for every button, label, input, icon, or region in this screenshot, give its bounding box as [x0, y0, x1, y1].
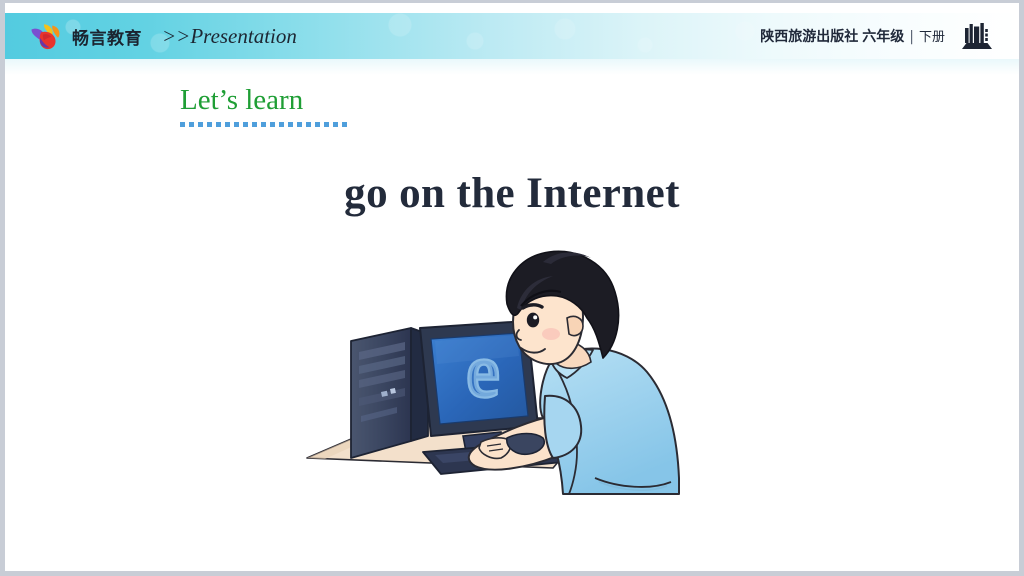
publisher-info: 陕西旅游出版社 六年级 | 下册: [760, 26, 945, 46]
computer-tower: [351, 328, 428, 458]
publisher-separator: |: [909, 29, 914, 45]
publisher-block: 陕西旅游出版社 六年级 | 下册: [760, 13, 995, 59]
breadcrumb: >>Presentation: [162, 24, 297, 49]
page-title: go on the Internet: [5, 169, 1019, 218]
section-label-block: Let’s learn: [180, 85, 480, 127]
boy-using-computer-illustration: e e: [295, 246, 715, 506]
brand-block[interactable]: 畅言教育 >>Presentation: [29, 13, 297, 59]
publisher-name: 陕西旅游出版社: [760, 26, 858, 46]
slide-page: 畅言教育 >>Presentation 陕西旅游出版社 六年级 | 下册: [5, 3, 1019, 571]
app-header: 畅言教育 >>Presentation 陕西旅游出版社 六年级 | 下册: [5, 13, 1019, 59]
brand-name: 畅言教育: [72, 24, 142, 49]
bird-logo-icon: [29, 22, 63, 50]
svg-text:e: e: [467, 331, 500, 413]
header-glow: [5, 59, 1019, 75]
slide-frame: 畅言教育 >>Presentation 陕西旅游出版社 六年级 | 下册: [0, 0, 1024, 576]
section-label: Let’s learn: [180, 85, 480, 115]
internet-explorer-e-logo: e e: [467, 331, 500, 413]
books-icon: [959, 21, 995, 51]
section-label-underline: [180, 122, 348, 127]
volume-label: 下册: [919, 26, 945, 45]
grade-label: 六年级: [862, 26, 904, 46]
